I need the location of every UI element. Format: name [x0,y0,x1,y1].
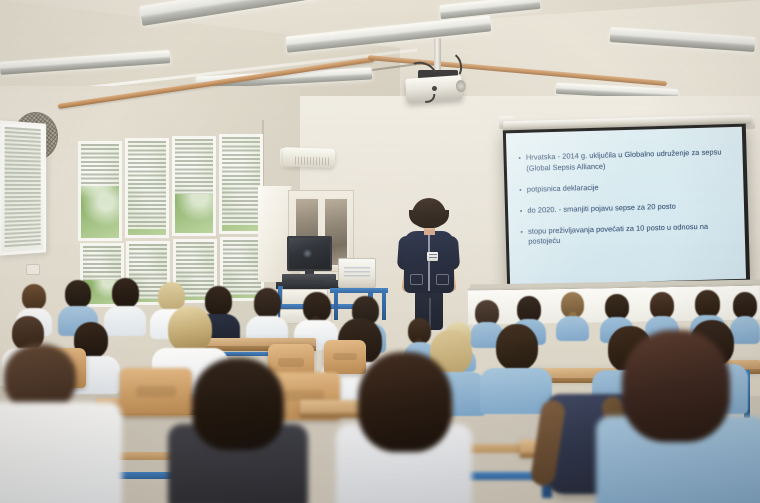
student-foreground [336,352,472,503]
window-blind[interactable] [128,141,166,229]
printer [338,258,376,288]
student-head [112,278,139,308]
slide-bullet: stopu preživljavanja povećati za 10 post… [521,221,730,248]
uniform-zipper [428,233,430,291]
bullet-dot-icon [519,188,521,190]
air-conditioner [283,147,336,168]
window-blind[interactable] [175,139,213,194]
uniform-pocket [436,274,449,285]
window-blind[interactable] [83,246,121,280]
projection-screen: Hrvatska - 2014 g. uključila u Globalno … [503,124,750,291]
student-foreground [168,358,308,503]
slide-content: Hrvatska - 2014 g. uključila u Globalno … [518,147,729,247]
window-blind[interactable] [81,144,119,186]
student-head [358,352,452,452]
window-pane[interactable] [78,141,122,241]
student-foreground [0,344,122,503]
student-head [496,324,538,370]
slide-bullet: do 2020. - smanjiti pojavu sepse za 20 p… [520,200,728,216]
slide-bullet: potpisnica deklaracije [519,179,727,195]
presenter-hair [412,198,446,228]
uniform-pocket [410,274,423,285]
window-pane[interactable] [219,134,263,234]
student-foreground [596,330,760,503]
power-outlet [26,264,40,275]
slide-bullet: Hrvatska - 2014 g. uključila u Globalno … [518,147,727,174]
student-head [650,292,674,319]
student-uniform [0,402,122,503]
window-pane[interactable] [172,136,216,236]
window-blind[interactable] [222,137,260,225]
student-head [254,288,281,318]
student-uniform [556,316,589,341]
student-head [622,330,730,442]
open-window-panel[interactable] [0,120,46,255]
student [480,324,552,412]
student-head [65,280,91,308]
bullet-dot-icon [520,209,522,211]
student-head [22,284,46,310]
classroom-photo: Hrvatska - 2014 g. uključila u Globalno … [0,0,760,503]
student-head [168,306,212,352]
student-head [695,290,720,318]
slide-bullet-text: Hrvatska - 2014 g. uključila u Globalno … [526,147,727,174]
student-head [192,358,284,450]
presenter [396,198,462,328]
slide-surface: Hrvatska - 2014 g. uključila u Globalno … [506,127,746,286]
computer-monitor [287,236,332,271]
window-blind [5,127,41,249]
window-pane[interactable] [125,138,169,238]
id-badge [427,252,438,261]
slide-bullet-text: stopu preživljavanja povećati za 10 post… [528,221,729,248]
student [556,292,589,340]
student-head [733,292,757,319]
bullet-dot-icon [521,230,523,232]
slide-bullet-text: do 2020. - smanjiti pojavu sepse za 20 p… [527,200,728,216]
table-frame-rail [330,288,388,293]
bullet-dot-icon [519,157,521,159]
student-head [4,344,76,410]
slide-bullet-text: potpisnica deklaracije [527,179,728,195]
student [246,288,288,344]
